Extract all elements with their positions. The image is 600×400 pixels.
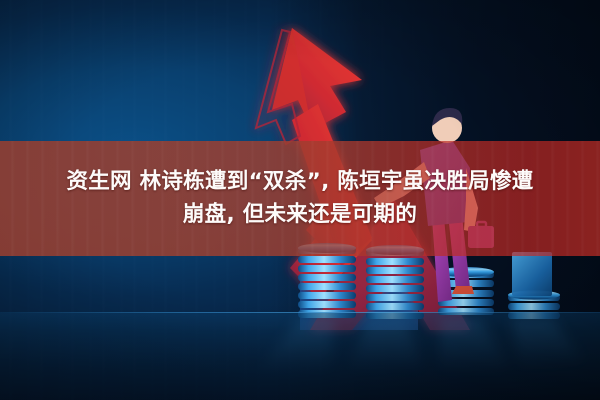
headline-line-2: 崩盘, 但未来还是可期的 xyxy=(183,200,417,231)
news-thumbnail: 资生网 林诗栋遭到“双杀”, 陈垣宇虽决胜局惨遭 崩盘, 但未来还是可期的 xyxy=(0,0,600,400)
headline-band: 资生网 林诗栋遭到“双杀”, 陈垣宇虽决胜局惨遭 崩盘, 但未来还是可期的 xyxy=(0,141,600,256)
headline-line-1: 资生网 林诗栋遭到“双杀”, 陈垣宇虽决胜局惨遭 xyxy=(66,167,533,198)
